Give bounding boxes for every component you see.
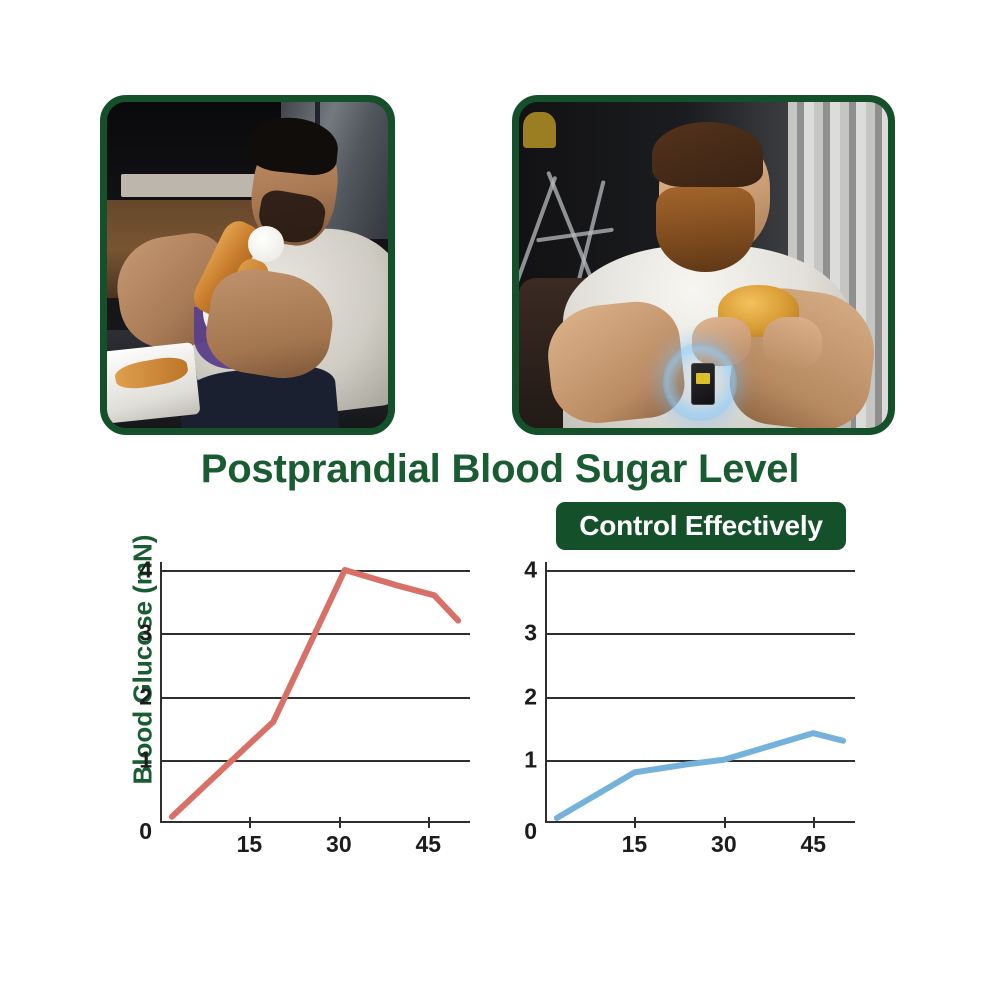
series-layer [160, 570, 470, 823]
y-tick-label: 0 [139, 818, 152, 845]
before-photo [100, 95, 395, 435]
x-tick-label: 15 [237, 833, 263, 856]
y-tick-label: 2 [139, 685, 152, 708]
y-tick-label: 4 [139, 559, 152, 582]
after-chart: 01234153045 [500, 548, 900, 868]
wrist-device [691, 363, 715, 405]
y-tick-label: 1 [139, 748, 152, 771]
x-tick-label: 30 [711, 833, 737, 856]
hair [652, 122, 763, 187]
y-tick-label: 1 [524, 748, 537, 771]
after-photo [512, 95, 895, 435]
page-title: Postprandial Blood Sugar Level [0, 447, 1000, 492]
before-chart-plot: 01234153045 [160, 570, 470, 823]
promo-infographic: Postprandial Blood Sugar Level Control E… [0, 0, 1000, 1000]
beard [656, 187, 756, 272]
x-tick-label: 15 [622, 833, 648, 856]
right-hand [763, 317, 822, 369]
y-tick-label: 3 [139, 622, 152, 645]
shelf [121, 174, 256, 197]
series-layer [545, 570, 855, 823]
whipped-cream-bite [248, 226, 285, 262]
x-tick-label: 45 [800, 833, 826, 856]
y-tick-label: 0 [524, 818, 537, 845]
lamp [523, 112, 556, 148]
series-line [557, 733, 843, 818]
after-chart-plot: 01234153045 [545, 570, 855, 823]
y-tick-label: 4 [524, 559, 537, 582]
y-tick-label: 2 [524, 685, 537, 708]
after-photo-image [519, 102, 888, 428]
x-tick-label: 30 [326, 833, 352, 856]
control-effectively-badge: Control Effectively [556, 502, 846, 550]
before-photo-image [107, 102, 388, 428]
y-tick-label: 3 [524, 622, 537, 645]
before-chart: Blood Glucose (mN) 01234153045 [100, 548, 500, 868]
series-line [172, 570, 458, 817]
x-tick-label: 45 [415, 833, 441, 856]
badge-label: Control Effectively [579, 510, 823, 542]
